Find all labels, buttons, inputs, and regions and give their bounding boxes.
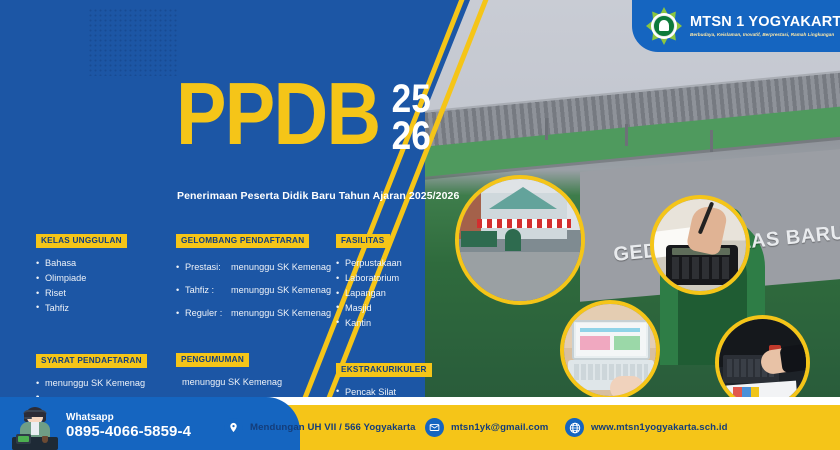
pole-shape	[545, 118, 548, 140]
list-item: Masjid	[336, 301, 441, 316]
contact-footer: Whatsapp 0895-4066-5859-4 Mendungan UH V…	[0, 405, 840, 450]
whatsapp-number[interactable]: 0895-4066-5859-4	[66, 423, 191, 442]
section-title-badge: PENGUMUMAN	[176, 353, 249, 367]
section-pengumuman: PENGUMUMAN menunggu SK Kemenag	[176, 349, 336, 390]
fasilitas-list: Perpustakaan Laboratorium Lapangan Masji…	[336, 256, 441, 331]
ppdb-poster: GEDUNG KELAS BARU MTSN 1 YOGYAKARTA Ber	[0, 0, 840, 450]
gelombang-label: Reguler :	[185, 302, 231, 325]
section-kelas-unggulan: KELAS UNGGULAN Bahasa Olimpiade Riset Ta…	[36, 230, 166, 316]
whatsapp-label: Whatsapp	[66, 412, 191, 423]
madrasah-emblem-icon	[646, 7, 682, 45]
list-item: Laboratorium	[336, 271, 441, 286]
page-title: PPDB	[176, 78, 379, 150]
section-fasilitas: FASILITAS Perpustakaan Laboratorium Lapa…	[336, 230, 441, 331]
list-item: Prestasi:menunggu SK Kemenag	[176, 256, 336, 279]
column-one: KELAS UNGGULAN Bahasa Olimpiade Riset Ta…	[36, 230, 166, 407]
list-item: Tahfiz :menunggu SK Kemenag	[176, 279, 336, 302]
section-title-badge: GELOMBANG PENDAFTARAN	[176, 234, 309, 248]
globe-icon	[565, 418, 584, 437]
pole-shape	[710, 130, 713, 152]
email-block[interactable]: mtsn1yk@gmail.com	[425, 418, 548, 437]
gelombang-value: menunggu SK Kemenag	[231, 262, 331, 272]
info-columns: KELAS UNGGULAN Bahasa Olimpiade Riset Ta…	[0, 230, 440, 410]
laptop-desk-photo	[560, 300, 660, 400]
brand-name: MTSN 1 YOGYAKARTA	[690, 15, 840, 30]
page-subtitle: Penerimaan Peserta Didik Baru Tahun Ajar…	[177, 190, 459, 202]
pole-shape	[625, 124, 628, 146]
list-item: Tahfiz	[36, 301, 166, 316]
gelombang-label: Prestasi:	[185, 256, 231, 279]
column-two: GELOMBANG PENDAFTARAN Prestasi:menunggu …	[176, 230, 336, 406]
envelope-icon	[425, 418, 444, 437]
year-top: 25	[391, 81, 430, 118]
list-item: Olimpiade	[36, 271, 166, 286]
list-item: menunggu SK Kemenag	[36, 376, 166, 391]
list-item: Bahasa	[36, 256, 166, 271]
gelombang-list: Prestasi:menunggu SK Kemenag Tahfiz :men…	[176, 256, 336, 325]
section-syarat-pendaftaran: SYARAT PENDAFTARAN menunggu SK Kemenag	[36, 350, 166, 391]
list-item: Riset	[36, 286, 166, 301]
office-work-photo	[715, 315, 810, 410]
kelas-unggulan-list: Bahasa Olimpiade Riset Tahfiz	[36, 256, 166, 316]
headset-operator-icon	[12, 407, 58, 450]
website-text: www.mtsn1yogyakarta.sch.id	[591, 422, 728, 433]
whatsapp-block[interactable]: Whatsapp 0895-4066-5859-4	[66, 412, 191, 442]
gelombang-label: Tahfiz :	[185, 279, 231, 302]
email-text: mtsn1yk@gmail.com	[451, 422, 548, 433]
section-title-badge: KELAS UNGGULAN	[36, 234, 127, 248]
section-title-badge: SYARAT PENDAFTARAN	[36, 354, 147, 368]
year-bottom: 26	[391, 118, 430, 155]
list-item: Perpustakaan	[336, 256, 441, 271]
brand-tagline: Berbudaya, Keislaman, Inovatif, Berprest…	[690, 32, 840, 37]
pengumuman-text: menunggu SK Kemenag	[176, 375, 336, 390]
list-item: Reguler :menunggu SK Kemenag	[176, 302, 336, 325]
section-title-badge: FASILITAS	[336, 234, 390, 248]
gelombang-value: menunggu SK Kemenag	[231, 285, 331, 295]
section-gelombang-pendaftaran: GELOMBANG PENDAFTARAN Prestasi:menunggu …	[176, 230, 336, 325]
school-entrance-photo	[455, 175, 585, 305]
address-block[interactable]: Mendungan UH VII / 566 Yogyakarta	[224, 418, 416, 437]
gelombang-value: menunggu SK Kemenag	[231, 308, 331, 318]
year-range: 25 26	[391, 81, 430, 155]
headline-block: PPDB 25 26	[176, 78, 433, 155]
list-item: Kantin	[336, 316, 441, 331]
website-block[interactable]: www.mtsn1yogyakarta.sch.id	[565, 418, 728, 437]
section-title-badge: EKSTRAKURIKULER	[336, 363, 432, 377]
dot-pattern-decoration	[88, 8, 178, 76]
hand-calculator-photo	[650, 195, 750, 295]
brand-badge: MTSN 1 YOGYAKARTA Berbudaya, Keislaman, …	[632, 0, 840, 52]
syarat-pendaftaran-list: menunggu SK Kemenag	[36, 376, 166, 391]
list-item: Lapangan	[336, 286, 441, 301]
location-pin-icon	[224, 418, 243, 437]
address-text: Mendungan UH VII / 566 Yogyakarta	[250, 422, 416, 433]
